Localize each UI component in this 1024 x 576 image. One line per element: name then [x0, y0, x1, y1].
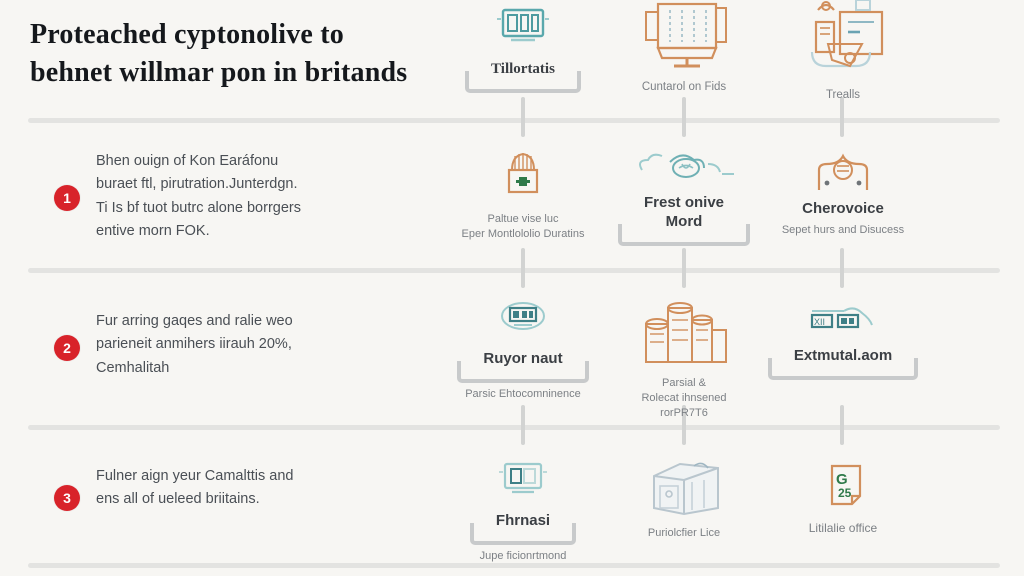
step-badge-2: 2: [54, 335, 80, 361]
page-title: Proteached cyptonolive to behnet willmar…: [30, 16, 450, 92]
column-header-1-frame: Tillortatis: [465, 54, 581, 93]
step-1-line-2: buraet ftl, pirutration.Junterdgn.: [96, 173, 436, 196]
row-3-cell-1-frame: Fhrnasi: [470, 506, 576, 545]
connector-col1-header: [521, 97, 525, 137]
divider-row-3: [28, 563, 1000, 568]
row-1-cell-3[interactable]: Cherovoice Sepet hurs and Disucess: [748, 152, 938, 238]
row-1-cell-2-label: Frest onive Mord: [644, 194, 724, 230]
row-2-cell-2-caption: Parsial & Rolecat ihnsened rorPR7T6: [589, 376, 779, 421]
step-1-line-3: Ti Is bf tuot butrc alone borrgers: [96, 197, 436, 220]
row-2-cell-3[interactable]: XII Extmutal.aom: [748, 305, 938, 380]
row-2-cell-3-label: Extmutal.aom: [794, 347, 892, 364]
connector-col2-header: [682, 97, 686, 137]
row-3-cell-1-caption: Jupe ficionrtmond: [428, 549, 618, 564]
step-2-line-1: Fur arring gaqes and ralie weo: [96, 310, 436, 333]
step-badge-1: 1: [54, 185, 80, 211]
column-header-3[interactable]: Trealls: [748, 0, 938, 104]
desk-workspace-icon: [748, 0, 938, 82]
connector-col1-row1: [521, 248, 525, 288]
connector-col2-row1: [682, 248, 686, 288]
step-2-line-2: parieneit anmihers iirauh 20%,: [96, 333, 436, 356]
column-header-1-label: Tillortatis: [491, 61, 555, 77]
svg-text:XII: XII: [814, 317, 825, 327]
step-text-2: Fur arring gaqes and ralie weo parieneit…: [96, 310, 436, 380]
step-badge-3: 3: [54, 485, 80, 511]
step-1-line-1: Bhen ouign of Kon Earáfonu: [96, 150, 436, 173]
divider-header: [28, 118, 1000, 123]
row-3-cell-1-label: Fhrnasi: [496, 512, 550, 529]
row-2-cell-1-frame: Ruyor naut: [457, 344, 588, 383]
row-1-cell-2-frame: Frest onive Mord: [618, 188, 750, 246]
row-3-cell-3-caption: Litilalie office: [748, 520, 938, 536]
note-badge-number: 25: [838, 486, 852, 500]
row-1-cell-2-label-line-1: Frest onive: [644, 194, 724, 211]
step-2-line-3: Cemhalitah: [96, 357, 436, 380]
step-3-line-2: ens all of ueleed briitains.: [96, 488, 436, 511]
step-1-line-4: entive morn FOK.: [96, 220, 436, 243]
arch-gate-icon: [748, 152, 938, 194]
page-title-line-2: behnet willmar pon in britands: [30, 54, 450, 92]
connector-col1-row2: [521, 405, 525, 445]
row-1-cell-3-label: Cherovoice: [748, 200, 938, 219]
step-text-3: Fulner aign yeur Camalttis and ens all o…: [96, 465, 436, 512]
divider-row-1: [28, 268, 1000, 273]
page-title-line-1: Proteached cyptonolive to: [30, 16, 450, 54]
connector-col3-row2: [840, 405, 844, 445]
step-text-1: Bhen ouign of Kon Earáfonu buraet ftl, p…: [96, 150, 436, 244]
divider-row-2: [28, 425, 1000, 430]
row-2-cell-1-label: Ruyor naut: [483, 350, 562, 367]
row-1-cell-3-caption: Sepet hurs and Disucess: [748, 223, 938, 238]
connector-col3-row1: [840, 248, 844, 288]
row-2-cell-2-caption-line-3: rorPR7T6: [589, 406, 779, 421]
note-checkmark-icon: G 25: [748, 462, 938, 514]
column-header-3-label: Trealls: [748, 88, 938, 104]
row-2-cell-3-frame: Extmutal.aom: [768, 341, 918, 380]
infographic-canvas: Proteached cyptonolive to behnet willmar…: [0, 0, 1024, 576]
row-1-cell-2-label-line-2: Mord: [666, 213, 703, 230]
dual-tag-icon: XII: [748, 305, 938, 335]
step-3-line-1: Fulner aign yeur Camalttis and: [96, 465, 436, 488]
row-3-cell-3[interactable]: G 25 Litilalie office: [748, 462, 938, 536]
row-2-cell-2-caption-line-2: Rolecat ihnsened: [589, 391, 779, 406]
